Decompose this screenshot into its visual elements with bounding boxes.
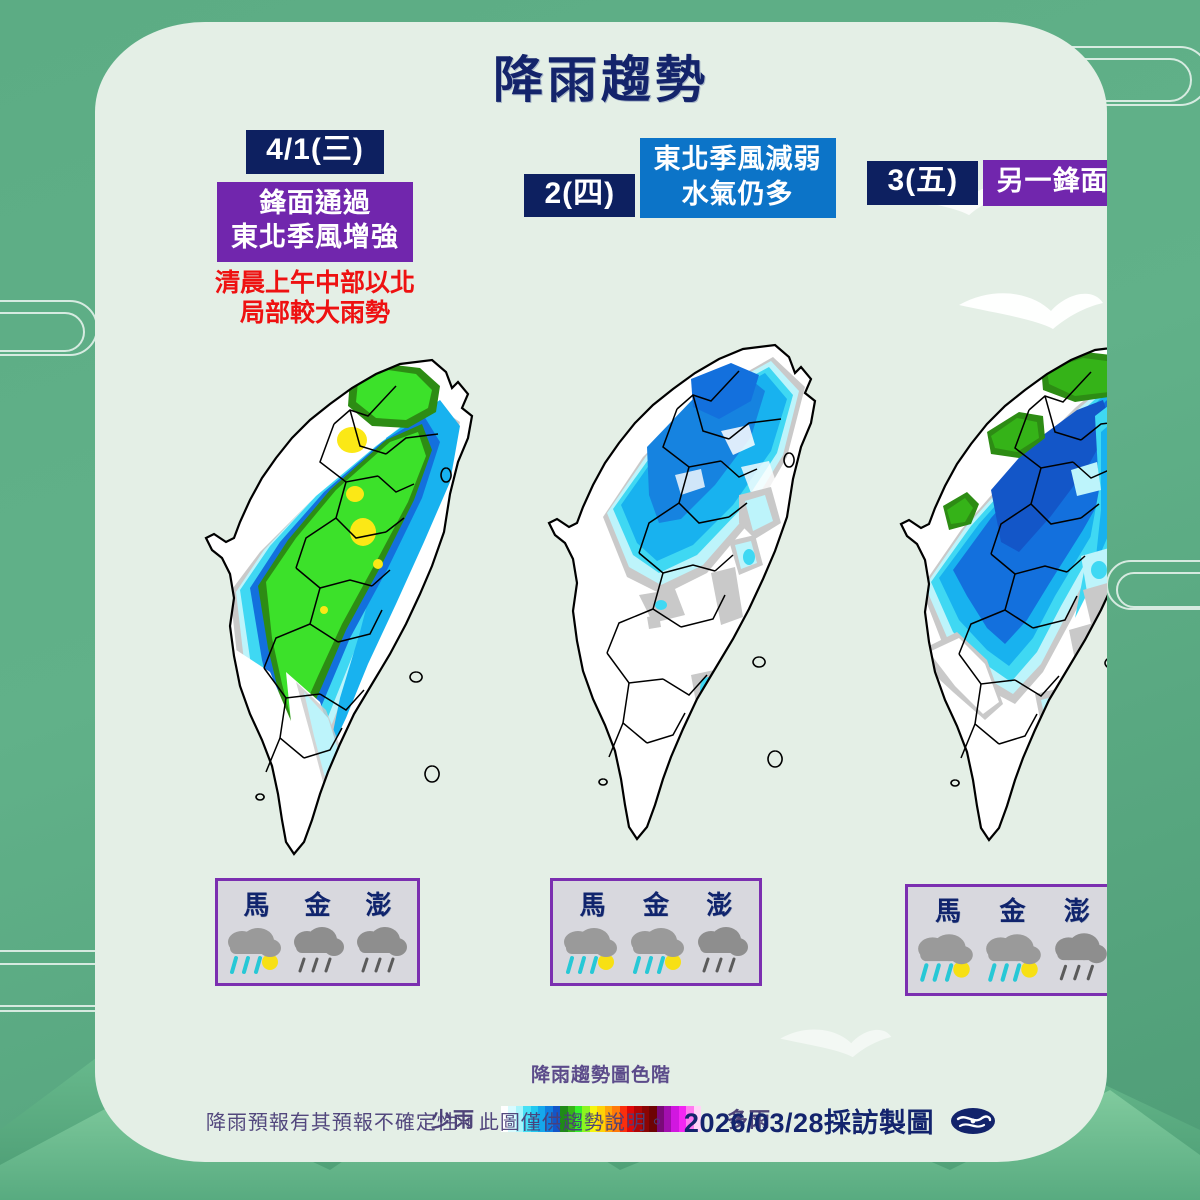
cloud-rain-sun-icon (560, 922, 622, 978)
island-name: 金 (643, 885, 669, 922)
island-icons-row (908, 928, 1107, 986)
page-title: 降雨趨勢 (95, 40, 1107, 112)
cloud-rain-sun-icon (224, 922, 286, 978)
island-icons-row (218, 922, 417, 978)
day-column-1: 4/1(三) 鋒面通過 東北季風增強 清晨上午中部以北 局部較大雨勢 (155, 130, 475, 329)
cloud-rain-gray-icon (290, 922, 348, 978)
cloud-rain-gray-icon (1051, 928, 1107, 986)
date-badge-1: 4/1(三) (246, 130, 384, 174)
cloud-rain-sun-icon (914, 928, 978, 986)
island-name: 馬 (580, 885, 606, 922)
outlying-islands-box-day-3: 馬 金 澎 (905, 884, 1107, 996)
condition-banner-1: 鋒面通過 東北季風增強 (217, 182, 413, 262)
warning-line: 局部較大雨勢 (155, 298, 475, 329)
cloud-rain-sun-icon (982, 928, 1046, 986)
date-badge-2: 2(四) (524, 174, 635, 218)
disclaimer-text: 降雨預報有其預報不確定性，此圖僅供趨勢說明。 (206, 1106, 668, 1135)
condition-line: 東北季風增強 (231, 220, 399, 255)
island-icons-row (553, 922, 759, 978)
island-names-row: 馬 金 澎 (218, 881, 417, 922)
condition-line: 另一鋒面接近 (997, 164, 1107, 199)
outlying-islands-box-day-2: 馬 金 澎 (550, 878, 762, 986)
warning-line: 清晨上午中部以北 (155, 268, 475, 299)
date-badge-3: 3(五) (867, 161, 978, 205)
island-name: 馬 (935, 891, 961, 928)
island-name: 馬 (243, 885, 269, 922)
cwa-logo-icon (950, 1106, 996, 1136)
condition-line: 水氣仍多 (654, 177, 822, 212)
outlying-islands-box-day-1: 馬 金 澎 (215, 878, 420, 986)
condition-banner-3: 另一鋒面接近 (983, 160, 1107, 206)
swirl-decoration-left-2 (0, 312, 85, 352)
cloud-rain-sun-icon (627, 922, 689, 978)
rainfall-map-day-2 (543, 327, 863, 857)
rainfall-map-day-1 (200, 342, 520, 872)
island-name: 金 (304, 885, 330, 922)
cloud-rain-gray-icon (353, 922, 411, 978)
condition-banner-2: 東北季風減弱 水氣仍多 (640, 138, 836, 218)
island-name: 澎 (706, 885, 732, 922)
warning-note-1: 清晨上午中部以北 局部較大雨勢 (155, 268, 475, 329)
island-name: 澎 (1064, 891, 1090, 928)
condition-line: 東北季風減弱 (654, 142, 822, 177)
day-column-3: 3(五) 另一鋒面接近 (863, 130, 1107, 206)
island-names-row: 馬 金 澎 (553, 881, 759, 922)
island-name: 澎 (365, 885, 391, 922)
legend-title: 降雨趨勢圖色階 (95, 1060, 1107, 1087)
day-column-2: 2(四) 東北季風減弱 水氣仍多 (520, 130, 840, 218)
credit-text: 2026/03/28採訪製圖 (684, 1101, 934, 1140)
swirl-decoration-mid-right-2 (1116, 572, 1200, 608)
cloud-rain-gray-icon (694, 922, 752, 978)
condition-line: 鋒面通過 (231, 186, 399, 221)
content-panel: 降雨趨勢 4/1(三) 鋒面通過 東北季風增強 清晨上午中部以北 局部較大雨勢 … (95, 22, 1107, 1162)
island-names-row: 馬 金 澎 (908, 887, 1107, 928)
footer: 降雨預報有其預報不確定性，此圖僅供趨勢說明。 2026/03/28採訪製圖 (95, 1101, 1107, 1140)
rainfall-map-day-3 (895, 320, 1107, 865)
island-name: 金 (999, 891, 1025, 928)
